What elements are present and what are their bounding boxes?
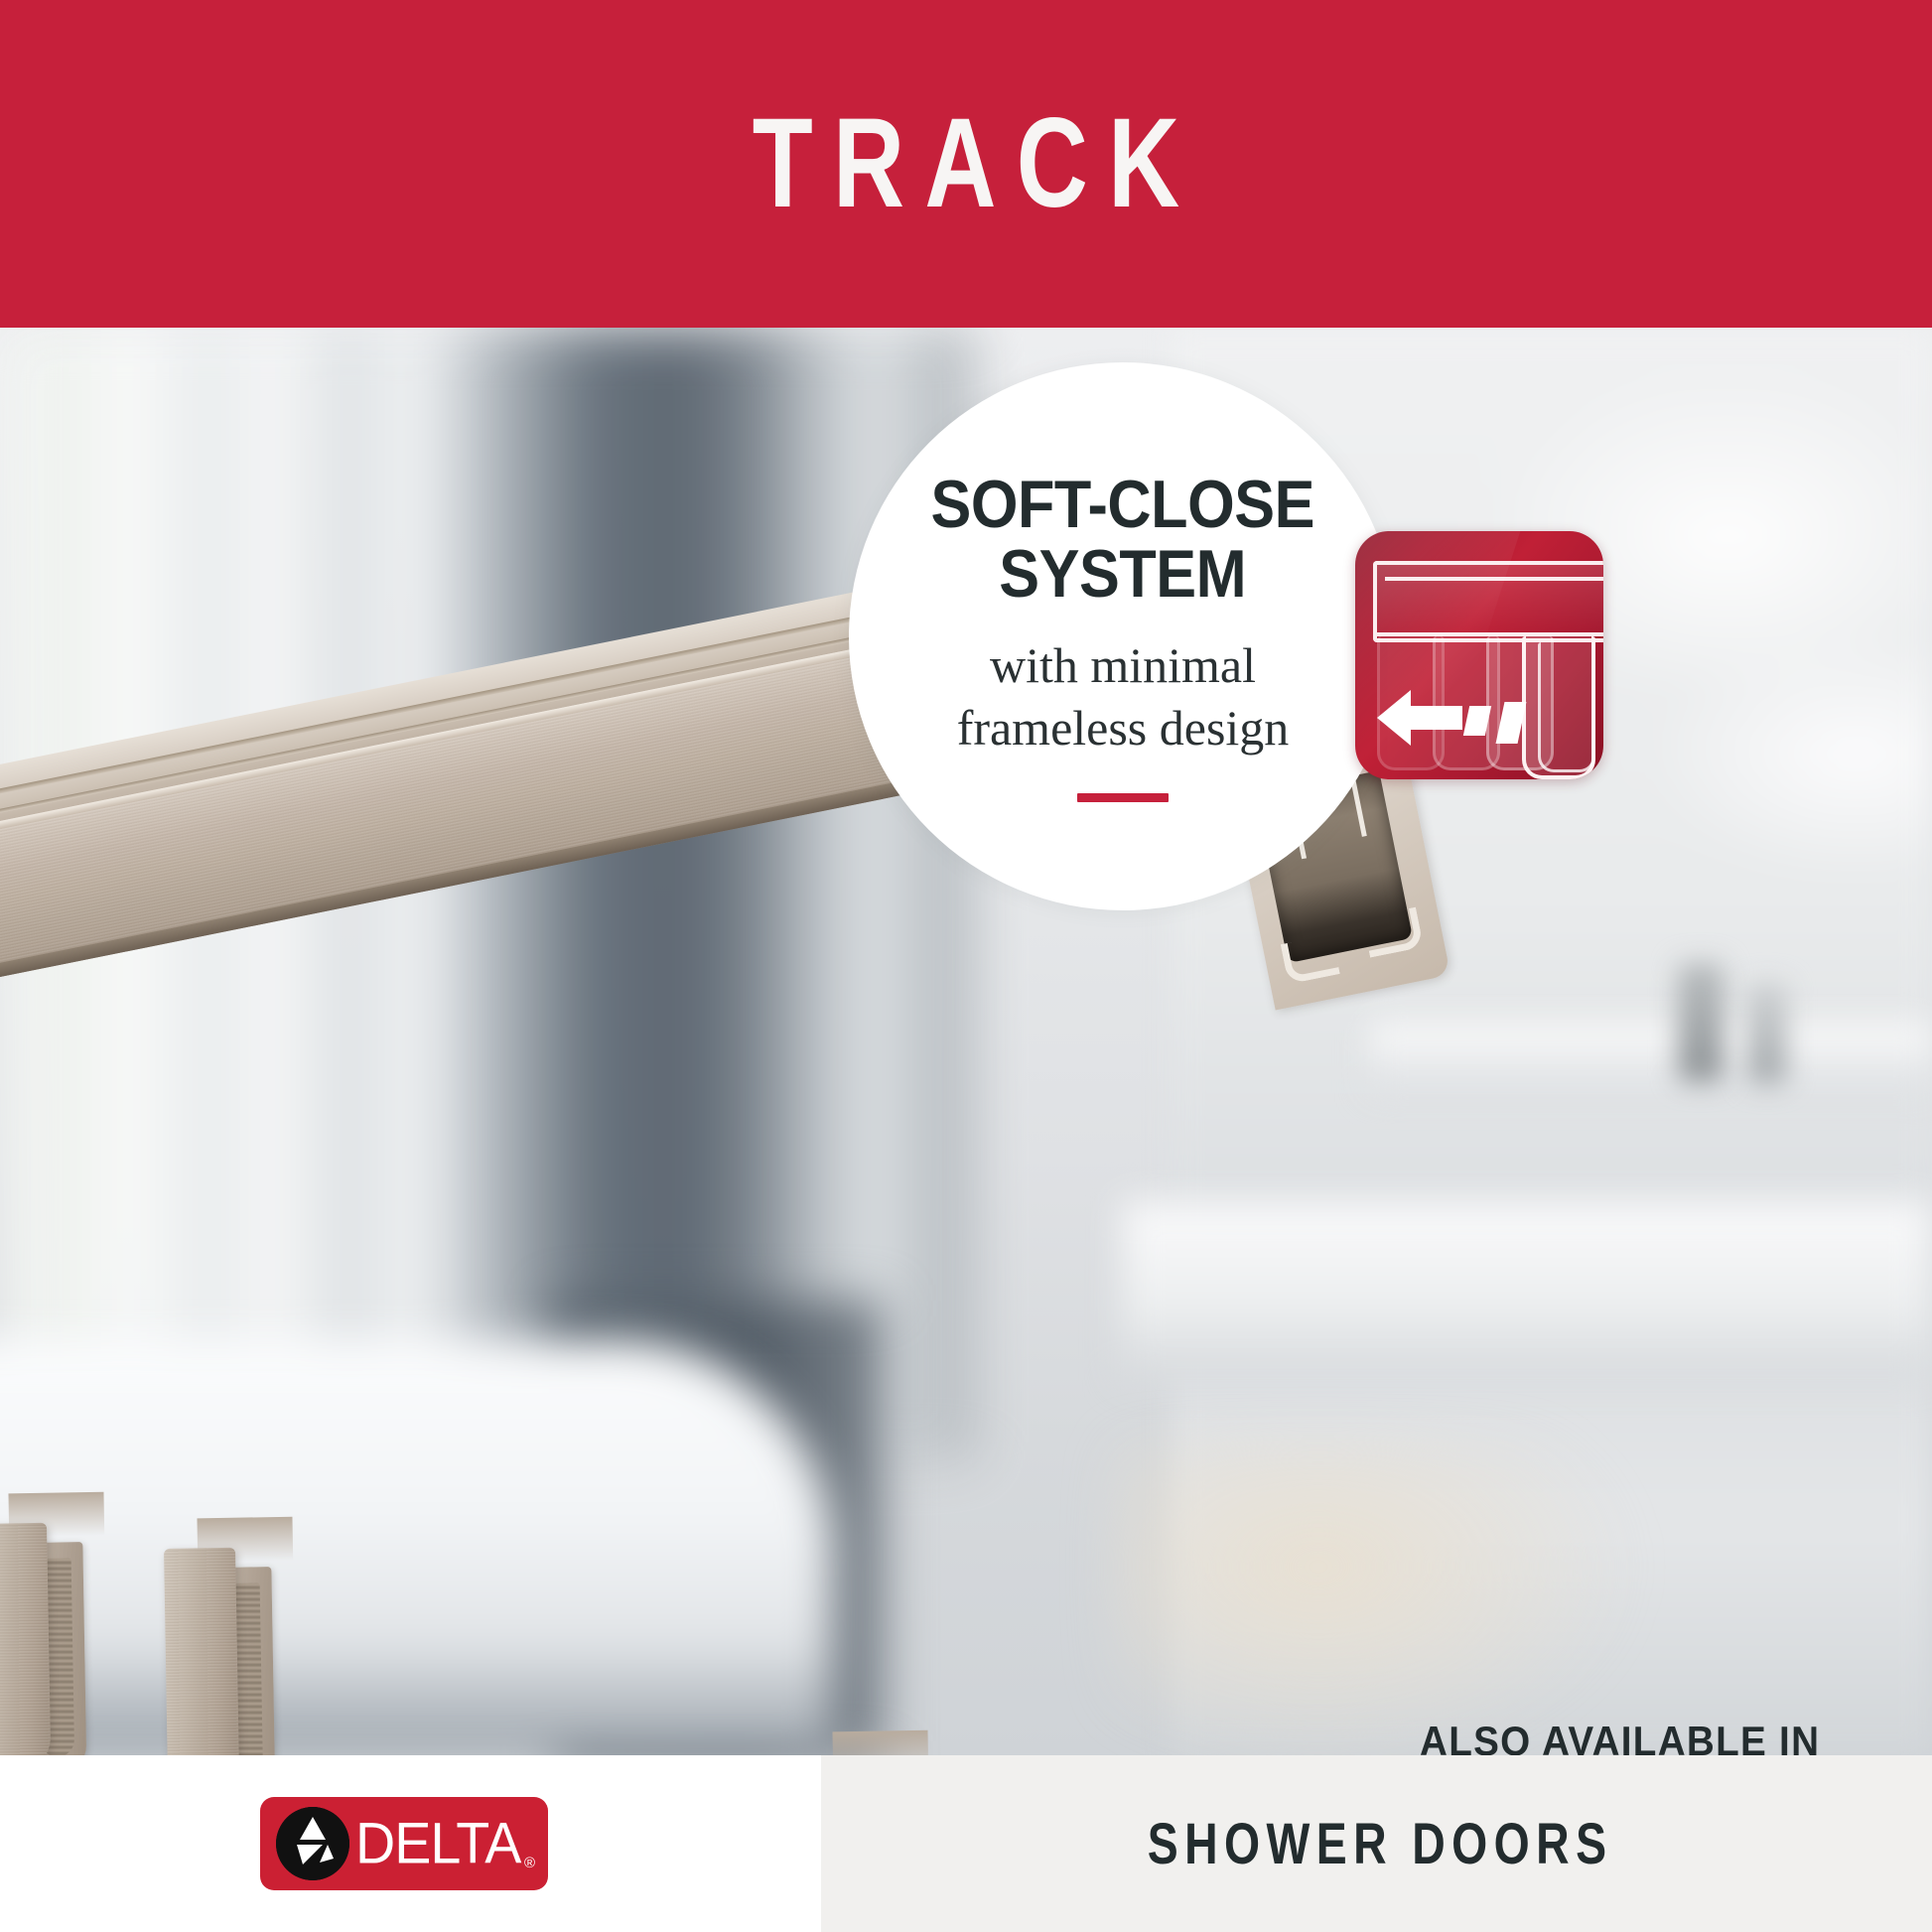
- feature-callout-badge: SOFT-CLOSE SYSTEM with minimal frameless…: [849, 362, 1397, 910]
- footer-brand-panel: DELTA ®: [0, 1755, 821, 1932]
- page-title: TRACK: [732, 100, 1199, 227]
- footer-bar: DELTA ® SHOWER DOORS: [0, 1755, 1932, 1932]
- clip-face-plate: [0, 1523, 51, 1755]
- badge-title: SOFT-CLOSE SYSTEM: [931, 471, 1315, 609]
- clip-face-plate: [164, 1548, 239, 1755]
- background-floor-glow: [1112, 1440, 1628, 1755]
- footer-tagline: SHOWER DOORS: [1141, 1811, 1612, 1877]
- badge-accent-rule: [1077, 793, 1169, 802]
- delta-logo[interactable]: DELTA ®: [260, 1797, 548, 1890]
- badge-subtitle: with minimal frameless design: [957, 634, 1290, 759]
- finish-options: ALSO AVAILABLE IN CHROME MATTE BLACK: [1420, 1718, 1797, 1755]
- product-marketing-card: TRACK: [0, 0, 1932, 1932]
- delta-triangle-icon: [276, 1807, 349, 1880]
- icon-door-panel-inner: [1538, 642, 1595, 772]
- background-bottle: [1678, 963, 1724, 1082]
- background-bottle: [1747, 983, 1787, 1084]
- finish-options-heading: ALSO AVAILABLE IN: [1420, 1718, 1767, 1755]
- registered-mark: ®: [524, 1855, 535, 1871]
- clip-neck: [832, 1730, 928, 1755]
- delta-wordmark: DELTA: [355, 1811, 520, 1877]
- soft-close-sliding-door-icon: [1355, 531, 1603, 779]
- footer-tagline-panel: SHOWER DOORS: [821, 1755, 1932, 1932]
- product-photo: SOFT-CLOSE SYSTEM with minimal frameless…: [0, 328, 1932, 1755]
- header-banner: TRACK: [0, 0, 1932, 328]
